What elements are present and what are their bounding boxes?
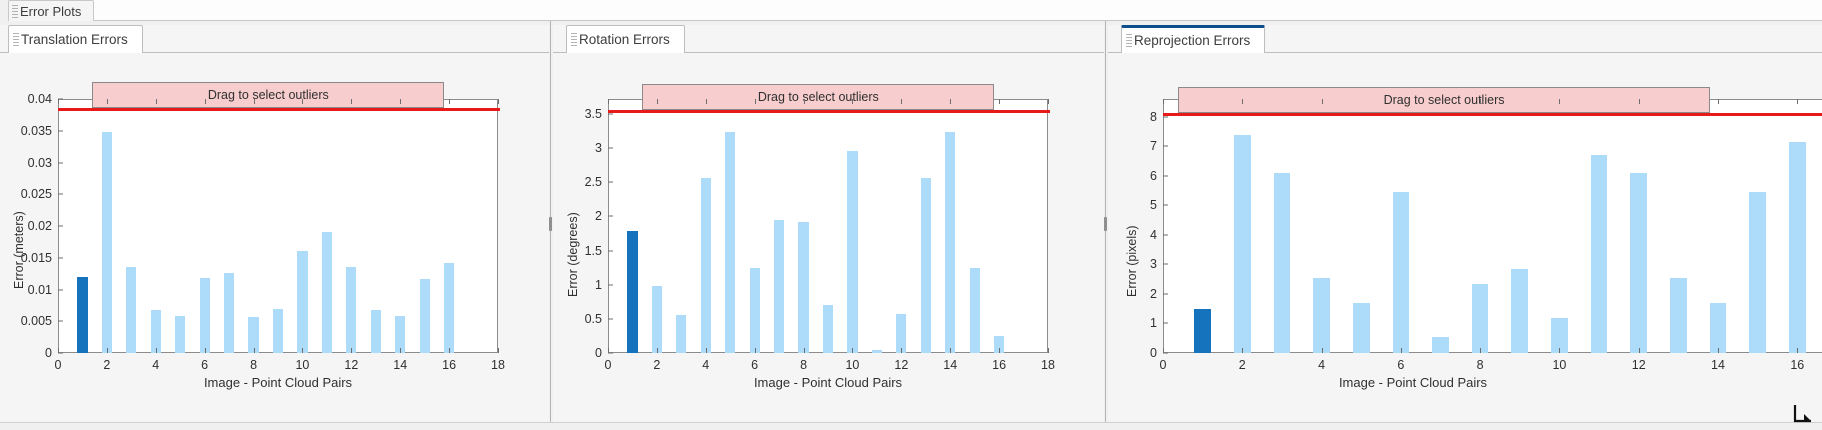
x-tick-mark-top bbox=[950, 99, 951, 104]
threshold-line[interactable] bbox=[608, 110, 1050, 113]
x-tick-mark bbox=[1048, 348, 1049, 353]
x-tick-mark-top bbox=[1480, 99, 1481, 104]
x-tick-label: 16 bbox=[992, 358, 1006, 372]
bar[interactable] bbox=[1393, 192, 1410, 353]
x-tick-mark bbox=[755, 348, 756, 353]
bar[interactable] bbox=[921, 178, 931, 353]
x-tick-mark bbox=[302, 348, 303, 353]
bar[interactable] bbox=[1353, 303, 1370, 353]
y-tick-label: 8 bbox=[1150, 110, 1157, 124]
y-tick-label: 0.02 bbox=[28, 219, 52, 233]
x-tick-mark-top bbox=[1797, 99, 1798, 104]
tab-reprojection-errors[interactable]: Reprojection Errors bbox=[1121, 25, 1265, 53]
bar[interactable] bbox=[652, 286, 662, 353]
x-tick-label: 2 bbox=[103, 358, 110, 372]
drag-handle-icon[interactable] bbox=[1126, 34, 1132, 47]
y-tick-mark bbox=[58, 289, 63, 290]
y-tick-mark bbox=[58, 257, 63, 258]
bar[interactable] bbox=[774, 220, 784, 353]
y-axis-label: Error (degrees) bbox=[566, 212, 580, 297]
y-tick-label: 0.04 bbox=[28, 92, 52, 106]
tab-reprojection-errors-label: Reprojection Errors bbox=[1134, 33, 1250, 48]
bar[interactable] bbox=[701, 178, 711, 353]
bar[interactable] bbox=[346, 267, 356, 353]
bar[interactable] bbox=[273, 309, 283, 353]
x-tick-mark-top bbox=[852, 99, 853, 104]
bar[interactable] bbox=[1630, 173, 1647, 353]
top-tab-strip: Error Plots bbox=[0, 0, 1822, 21]
drag-handle-icon[interactable] bbox=[571, 33, 577, 46]
y-tick-label: 0.025 bbox=[21, 187, 52, 201]
y-tick-mark bbox=[1163, 293, 1168, 294]
x-tick-mark bbox=[400, 348, 401, 353]
x-tick-label: 6 bbox=[201, 358, 208, 372]
x-tick-label: 18 bbox=[491, 358, 505, 372]
x-tick-mark bbox=[657, 348, 658, 353]
bar[interactable] bbox=[750, 268, 760, 353]
x-tick-mark bbox=[804, 348, 805, 353]
x-tick-label: 10 bbox=[845, 358, 859, 372]
bar[interactable] bbox=[872, 350, 882, 353]
bar[interactable] bbox=[420, 279, 430, 353]
outlier-slider-label: Drag to select outliers bbox=[758, 90, 879, 104]
tab-error-plots-label: Error Plots bbox=[20, 4, 81, 19]
x-axis-label: Image - Point Cloud Pairs bbox=[608, 375, 1048, 390]
x-tick-label: 16 bbox=[1790, 358, 1804, 372]
x-tick-mark-top bbox=[1163, 99, 1164, 104]
y-tick-mark bbox=[1163, 175, 1168, 176]
x-tick-mark bbox=[1559, 348, 1560, 353]
y-tick-label: 3.5 bbox=[585, 107, 602, 121]
x-tick-mark-top bbox=[1401, 99, 1402, 104]
x-tick-mark-top bbox=[706, 99, 707, 104]
y-tick-mark bbox=[58, 194, 63, 195]
panel-tabs-rotation: Rotation Errors bbox=[553, 21, 1104, 53]
x-tick-mark-top bbox=[58, 99, 59, 104]
x-tick-label: 4 bbox=[152, 358, 159, 372]
bar[interactable] bbox=[1274, 173, 1291, 353]
bar[interactable] bbox=[102, 132, 112, 353]
splitter-grip-icon[interactable] bbox=[549, 217, 552, 231]
bar[interactable] bbox=[322, 232, 332, 353]
bar[interactable] bbox=[1789, 142, 1806, 353]
x-tick-mark bbox=[107, 348, 108, 353]
panel-body-rotation: Drag to select outliers 00.511.522.533.5… bbox=[553, 53, 1104, 430]
x-tick-label: 2 bbox=[1239, 358, 1246, 372]
x-axis-label: Image - Point Cloud Pairs bbox=[58, 375, 498, 390]
x-tick-label: 12 bbox=[894, 358, 908, 372]
x-tick-label: 14 bbox=[943, 358, 957, 372]
x-tick-mark-top bbox=[205, 99, 206, 104]
bar[interactable] bbox=[297, 251, 307, 353]
y-tick-mark bbox=[1163, 234, 1168, 235]
x-tick-mark-top bbox=[1242, 99, 1243, 104]
x-tick-mark bbox=[1480, 348, 1481, 353]
x-tick-label: 18 bbox=[1041, 358, 1055, 372]
y-tick-label: 6 bbox=[1150, 169, 1157, 183]
x-tick-label: 6 bbox=[751, 358, 758, 372]
x-tick-mark-top bbox=[804, 99, 805, 104]
bar[interactable] bbox=[725, 132, 735, 353]
y-tick-mark bbox=[608, 284, 613, 285]
panel-body-translation: Drag to select outliers 00.0050.010.0150… bbox=[0, 53, 549, 430]
y-tick-label: 2 bbox=[1150, 287, 1157, 301]
bar[interactable] bbox=[1432, 337, 1449, 353]
panel-tabs-reprojection: Reprojection Errors bbox=[1108, 21, 1822, 53]
x-tick-label: 0 bbox=[1160, 358, 1167, 372]
x-axis-label: Image - Point Cloud Pairs bbox=[1163, 375, 1663, 390]
y-tick-label: 0 bbox=[1150, 346, 1157, 360]
y-tick-mark bbox=[608, 148, 613, 149]
bar-series[interactable] bbox=[58, 99, 498, 353]
y-tick-mark bbox=[1163, 146, 1168, 147]
bar[interactable] bbox=[151, 310, 161, 353]
outlier-slider-band[interactable]: Drag to select outliers bbox=[92, 82, 444, 108]
bar[interactable] bbox=[627, 231, 637, 353]
x-tick-mark bbox=[58, 348, 59, 353]
x-tick-mark-top bbox=[400, 99, 401, 104]
bar[interactable] bbox=[1511, 269, 1528, 353]
bar[interactable] bbox=[676, 315, 686, 353]
x-tick-mark bbox=[1718, 348, 1719, 353]
threshold-line[interactable] bbox=[58, 108, 500, 111]
panels-container: Translation Errors Drag to select outlie… bbox=[0, 21, 1822, 430]
x-tick-label: 14 bbox=[393, 358, 407, 372]
y-tick-label: 0.01 bbox=[28, 283, 52, 297]
x-tick-mark bbox=[1797, 348, 1798, 353]
drag-handle-icon[interactable] bbox=[13, 33, 19, 46]
y-tick-mark bbox=[608, 114, 613, 115]
x-tick-mark-top bbox=[1718, 99, 1719, 104]
bar-series[interactable] bbox=[608, 99, 1048, 353]
x-tick-mark bbox=[351, 348, 352, 353]
bar[interactable] bbox=[1313, 278, 1330, 353]
x-tick-label: 16 bbox=[442, 358, 456, 372]
threshold-line[interactable] bbox=[1163, 113, 1822, 116]
resize-cursor-icon bbox=[1788, 398, 1818, 428]
x-tick-mark-top bbox=[254, 99, 255, 104]
x-tick-mark bbox=[999, 348, 1000, 353]
x-tick-label: 6 bbox=[1397, 358, 1404, 372]
tab-translation-errors-label: Translation Errors bbox=[21, 32, 128, 47]
y-tick-label: 2.5 bbox=[585, 175, 602, 189]
bar[interactable] bbox=[945, 132, 955, 353]
x-tick-label: 0 bbox=[605, 358, 612, 372]
bar[interactable] bbox=[1749, 192, 1766, 353]
x-tick-mark-top bbox=[156, 99, 157, 104]
x-tick-mark bbox=[449, 348, 450, 353]
y-tick-label: 7 bbox=[1150, 139, 1157, 153]
panel-body-reprojection: Drag to select outliers 012345678 024681… bbox=[1108, 53, 1822, 430]
x-tick-mark-top bbox=[1639, 99, 1640, 104]
y-tick-mark bbox=[608, 318, 613, 319]
y-tick-label: 3 bbox=[1150, 257, 1157, 271]
x-tick-label: 2 bbox=[653, 358, 660, 372]
x-tick-mark bbox=[156, 348, 157, 353]
y-tick-label: 0.03 bbox=[28, 156, 52, 170]
x-tick-mark-top bbox=[901, 99, 902, 104]
x-tick-label: 8 bbox=[1477, 358, 1484, 372]
y-tick-mark bbox=[1163, 264, 1168, 265]
x-tick-label: 12 bbox=[344, 358, 358, 372]
x-tick-mark-top bbox=[1048, 99, 1049, 104]
tab-rotation-errors-label: Rotation Errors bbox=[579, 32, 670, 47]
x-tick-mark bbox=[1163, 348, 1164, 353]
x-tick-label: 8 bbox=[250, 358, 257, 372]
y-tick-mark bbox=[1163, 116, 1168, 117]
bar[interactable] bbox=[175, 316, 185, 353]
panel-reprojection-errors: Reprojection Errors Drag to select outli… bbox=[1108, 21, 1822, 430]
x-tick-mark bbox=[1639, 348, 1640, 353]
y-tick-label: 5 bbox=[1150, 198, 1157, 212]
bar[interactable] bbox=[371, 310, 381, 353]
y-tick-label: 0 bbox=[595, 346, 602, 360]
tab-rotation-errors[interactable]: Rotation Errors bbox=[566, 25, 685, 53]
bar[interactable] bbox=[847, 151, 857, 353]
outlier-slider-label: Drag to select outliers bbox=[208, 88, 329, 102]
x-tick-label: 10 bbox=[295, 358, 309, 372]
x-tick-mark-top bbox=[449, 99, 450, 104]
bar-series[interactable] bbox=[1163, 99, 1822, 353]
y-tick-mark bbox=[58, 130, 63, 131]
bar[interactable] bbox=[444, 263, 454, 353]
drag-handle-icon[interactable] bbox=[12, 5, 18, 18]
x-tick-mark bbox=[608, 348, 609, 353]
bar[interactable] bbox=[1472, 284, 1489, 353]
bar[interactable] bbox=[1234, 135, 1251, 353]
x-tick-mark-top bbox=[608, 99, 609, 104]
x-tick-mark bbox=[950, 348, 951, 353]
y-tick-label: 0 bbox=[45, 346, 52, 360]
bar[interactable] bbox=[1591, 155, 1608, 353]
x-tick-mark-top bbox=[498, 99, 499, 104]
y-tick-label: 0.035 bbox=[21, 124, 52, 138]
bar[interactable] bbox=[224, 273, 234, 353]
x-tick-mark bbox=[254, 348, 255, 353]
bar[interactable] bbox=[1194, 309, 1211, 353]
x-tick-mark-top bbox=[755, 99, 756, 104]
y-tick-label: 1 bbox=[1150, 316, 1157, 330]
y-tick-mark bbox=[1163, 323, 1168, 324]
bar[interactable] bbox=[1710, 303, 1727, 353]
x-tick-mark-top bbox=[107, 99, 108, 104]
outlier-slider-band[interactable]: Drag to select outliers bbox=[1178, 87, 1711, 113]
x-tick-label: 4 bbox=[702, 358, 709, 372]
y-tick-mark bbox=[608, 182, 613, 183]
top-tab-strip-filler bbox=[93, 0, 1822, 21]
y-tick-mark bbox=[58, 226, 63, 227]
y-tick-label: 0.005 bbox=[21, 314, 52, 328]
panel-rotation-errors: Rotation Errors Drag to select outliers … bbox=[553, 21, 1104, 430]
x-tick-label: 8 bbox=[800, 358, 807, 372]
y-tick-mark bbox=[58, 321, 63, 322]
status-bar bbox=[0, 422, 1822, 430]
x-tick-mark-top bbox=[302, 99, 303, 104]
x-tick-mark bbox=[205, 348, 206, 353]
x-tick-mark-top bbox=[657, 99, 658, 104]
y-tick-mark bbox=[608, 250, 613, 251]
x-tick-mark bbox=[1242, 348, 1243, 353]
error-plots-window: Error Plots Translation Errors Drag to s… bbox=[0, 0, 1822, 430]
x-tick-label: 14 bbox=[1711, 358, 1725, 372]
panel-translation-errors: Translation Errors Drag to select outlie… bbox=[0, 21, 549, 430]
y-tick-label: 0.5 bbox=[585, 312, 602, 326]
y-tick-label: 2 bbox=[595, 209, 602, 223]
y-tick-mark bbox=[58, 162, 63, 163]
x-tick-mark-top bbox=[1322, 99, 1323, 104]
bar[interactable] bbox=[200, 278, 210, 353]
x-tick-mark bbox=[1401, 348, 1402, 353]
x-tick-label: 0 bbox=[55, 358, 62, 372]
x-tick-mark bbox=[901, 348, 902, 353]
x-tick-mark-top bbox=[351, 99, 352, 104]
tab-translation-errors[interactable]: Translation Errors bbox=[8, 25, 143, 53]
bar[interactable] bbox=[126, 267, 136, 353]
bar[interactable] bbox=[823, 305, 833, 353]
panel-tabs-translation: Translation Errors bbox=[0, 21, 549, 53]
x-tick-mark-top bbox=[999, 99, 1000, 104]
y-tick-label: 3 bbox=[595, 141, 602, 155]
y-tick-label: 1.5 bbox=[585, 244, 602, 258]
bar[interactable] bbox=[970, 268, 980, 353]
chart-rotation-errors[interactable]: Drag to select outliers 00.511.522.533.5… bbox=[608, 99, 1048, 353]
x-tick-mark bbox=[1322, 348, 1323, 353]
chart-reprojection-errors[interactable]: Drag to select outliers 012345678 024681… bbox=[1163, 99, 1822, 353]
outlier-slider-band[interactable]: Drag to select outliers bbox=[642, 84, 994, 110]
y-axis-label: Error (meters) bbox=[12, 211, 26, 289]
x-tick-label: 4 bbox=[1318, 358, 1325, 372]
x-tick-label: 10 bbox=[1552, 358, 1566, 372]
y-axis-label: Error (pixels) bbox=[1125, 225, 1139, 297]
bar[interactable] bbox=[1670, 278, 1687, 353]
chart-translation-errors[interactable]: Drag to select outliers 00.0050.010.0150… bbox=[58, 99, 498, 353]
x-tick-mark bbox=[706, 348, 707, 353]
bar[interactable] bbox=[798, 222, 808, 353]
x-tick-mark-top bbox=[1559, 99, 1560, 104]
x-tick-label: 12 bbox=[1632, 358, 1646, 372]
splitter-grip-icon[interactable] bbox=[1104, 217, 1107, 231]
x-tick-mark bbox=[498, 348, 499, 353]
y-tick-mark bbox=[1163, 205, 1168, 206]
bar[interactable] bbox=[77, 277, 87, 353]
y-tick-mark bbox=[608, 216, 613, 217]
y-tick-label: 4 bbox=[1150, 228, 1157, 242]
tab-error-plots[interactable]: Error Plots bbox=[8, 0, 94, 21]
y-tick-label: 1 bbox=[595, 278, 602, 292]
x-tick-mark bbox=[852, 348, 853, 353]
